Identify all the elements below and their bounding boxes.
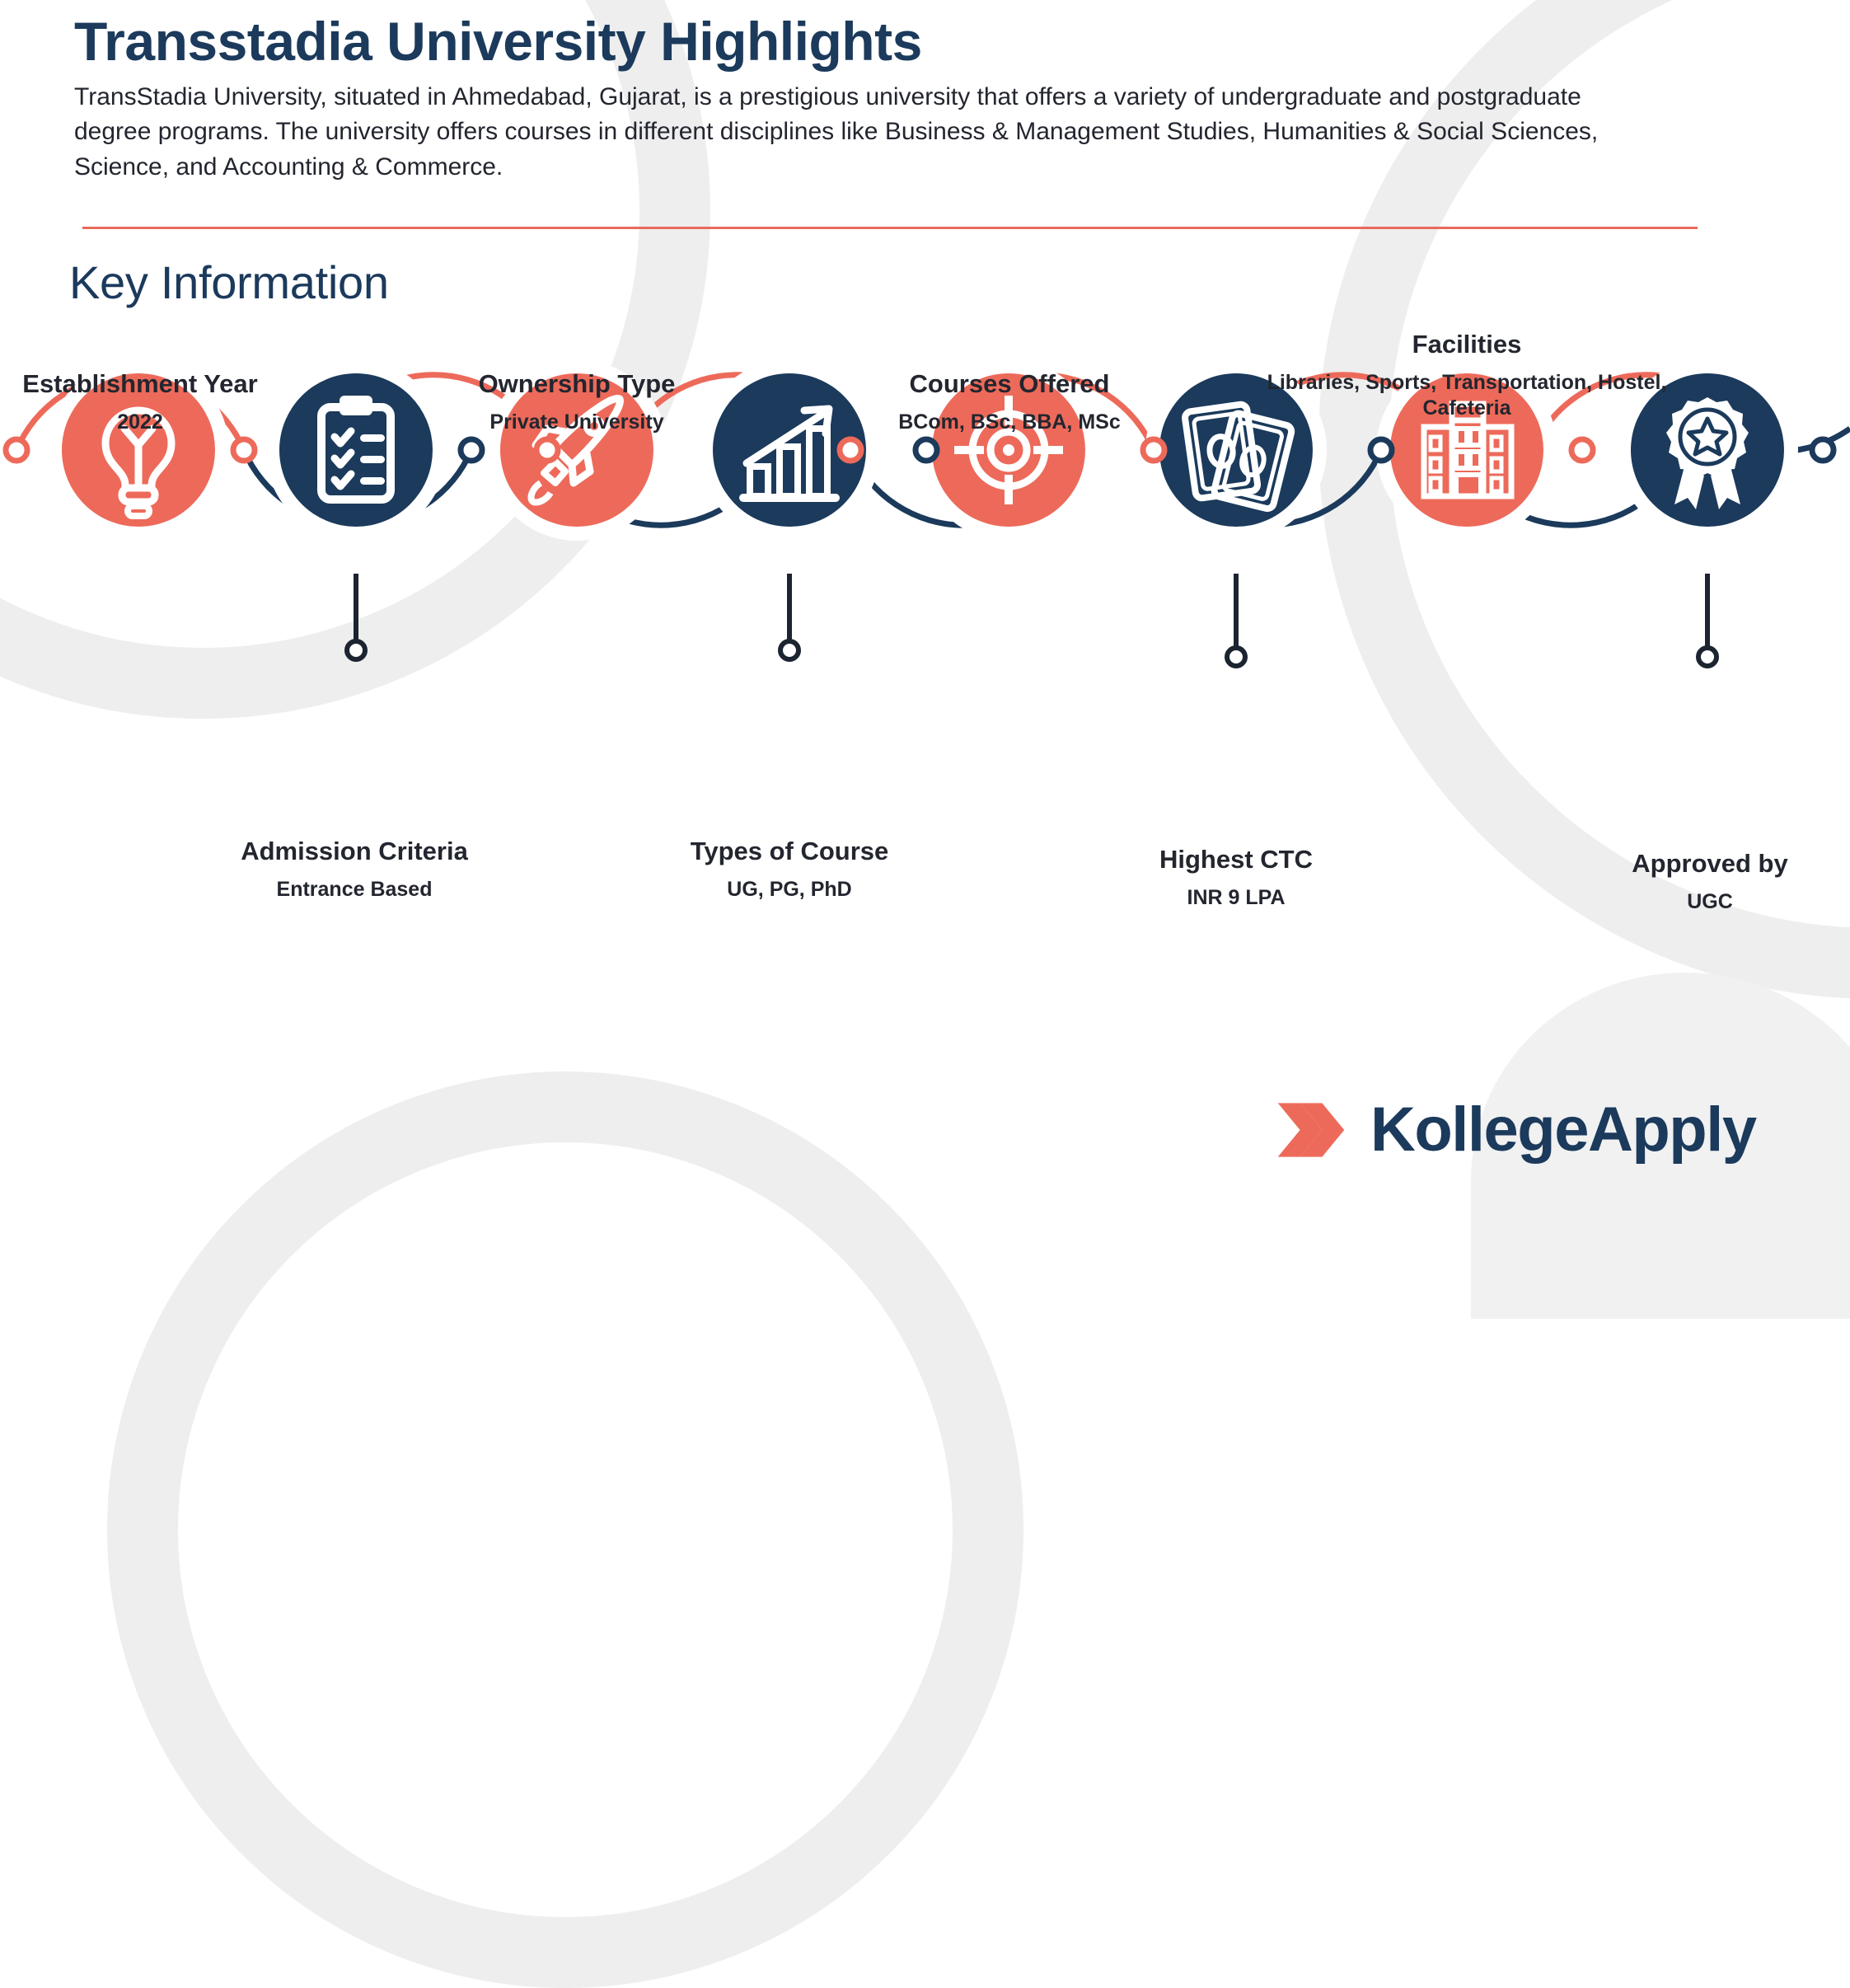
label-title: Approved by — [1520, 849, 1850, 879]
double-chevron-icon — [1273, 1092, 1349, 1168]
stem-node-6 — [1227, 648, 1245, 666]
junction-node-9 — [1812, 439, 1834, 461]
label-title: Courses Offered — [820, 369, 1199, 400]
header: Transstadia University Highlights TransS… — [74, 12, 1722, 185]
section-title: Key Information — [69, 256, 389, 309]
junction-node-2 — [461, 439, 482, 461]
junction-node-8 — [1571, 439, 1593, 461]
label-facilities: Facilities Libraries, Sports, Transporta… — [1261, 330, 1673, 421]
label-title: Admission Criteria — [165, 837, 544, 867]
label-title: Ownership Type — [387, 369, 766, 400]
background-ring-bottom-left — [107, 1071, 1023, 1988]
label-value: UG, PG, PhD — [600, 877, 979, 903]
label-value: Libraries, Sports, Transportation, Hoste… — [1261, 370, 1673, 422]
junction-node-3 — [536, 439, 558, 461]
label-value: UGC — [1520, 889, 1850, 915]
label-establishment-year: Establishment Year 2022 — [0, 369, 330, 435]
header-divider — [82, 227, 1698, 229]
junction-node-1 — [233, 439, 255, 461]
label-ownership-type: Ownership Type Private University — [387, 369, 766, 435]
label-value: 2022 — [0, 410, 330, 435]
label-admission-criteria: Admission Criteria Entrance Based — [165, 837, 544, 903]
stem-node-2 — [347, 641, 365, 659]
stem-node-8 — [1698, 648, 1717, 666]
label-courses-offered: Courses Offered BCom, BSc, BBA, MSc — [820, 369, 1199, 435]
label-title: Highest CTC — [1047, 845, 1426, 875]
junction-node-5 — [916, 439, 937, 461]
stem-node-4 — [780, 641, 799, 659]
label-value: Entrance Based — [165, 877, 544, 903]
page-title: Transstadia University Highlights — [74, 12, 1722, 72]
label-value: Private University — [387, 410, 766, 435]
intro-paragraph: TransStadia University, situated in Ahme… — [74, 80, 1615, 186]
label-value: BCom, BSc, BBA, MSc — [820, 410, 1199, 435]
label-title: Establishment Year — [0, 369, 330, 400]
junction-node-4 — [840, 439, 861, 461]
label-value: INR 9 LPA — [1047, 885, 1426, 911]
label-types-of-course: Types of Course UG, PG, PhD — [600, 837, 979, 903]
label-approved-by: Approved by UGC — [1520, 849, 1850, 915]
logo-text: KollegeApply — [1370, 1099, 1756, 1161]
kollegeapply-logo: KollegeApply — [1273, 1092, 1756, 1168]
label-title: Facilities — [1261, 330, 1673, 360]
junction-node-7 — [1370, 439, 1392, 461]
label-title: Types of Course — [600, 837, 979, 867]
junction-node-6 — [1143, 439, 1164, 461]
junction-node-0 — [6, 439, 27, 461]
label-highest-ctc: Highest CTC INR 9 LPA — [1047, 845, 1426, 911]
